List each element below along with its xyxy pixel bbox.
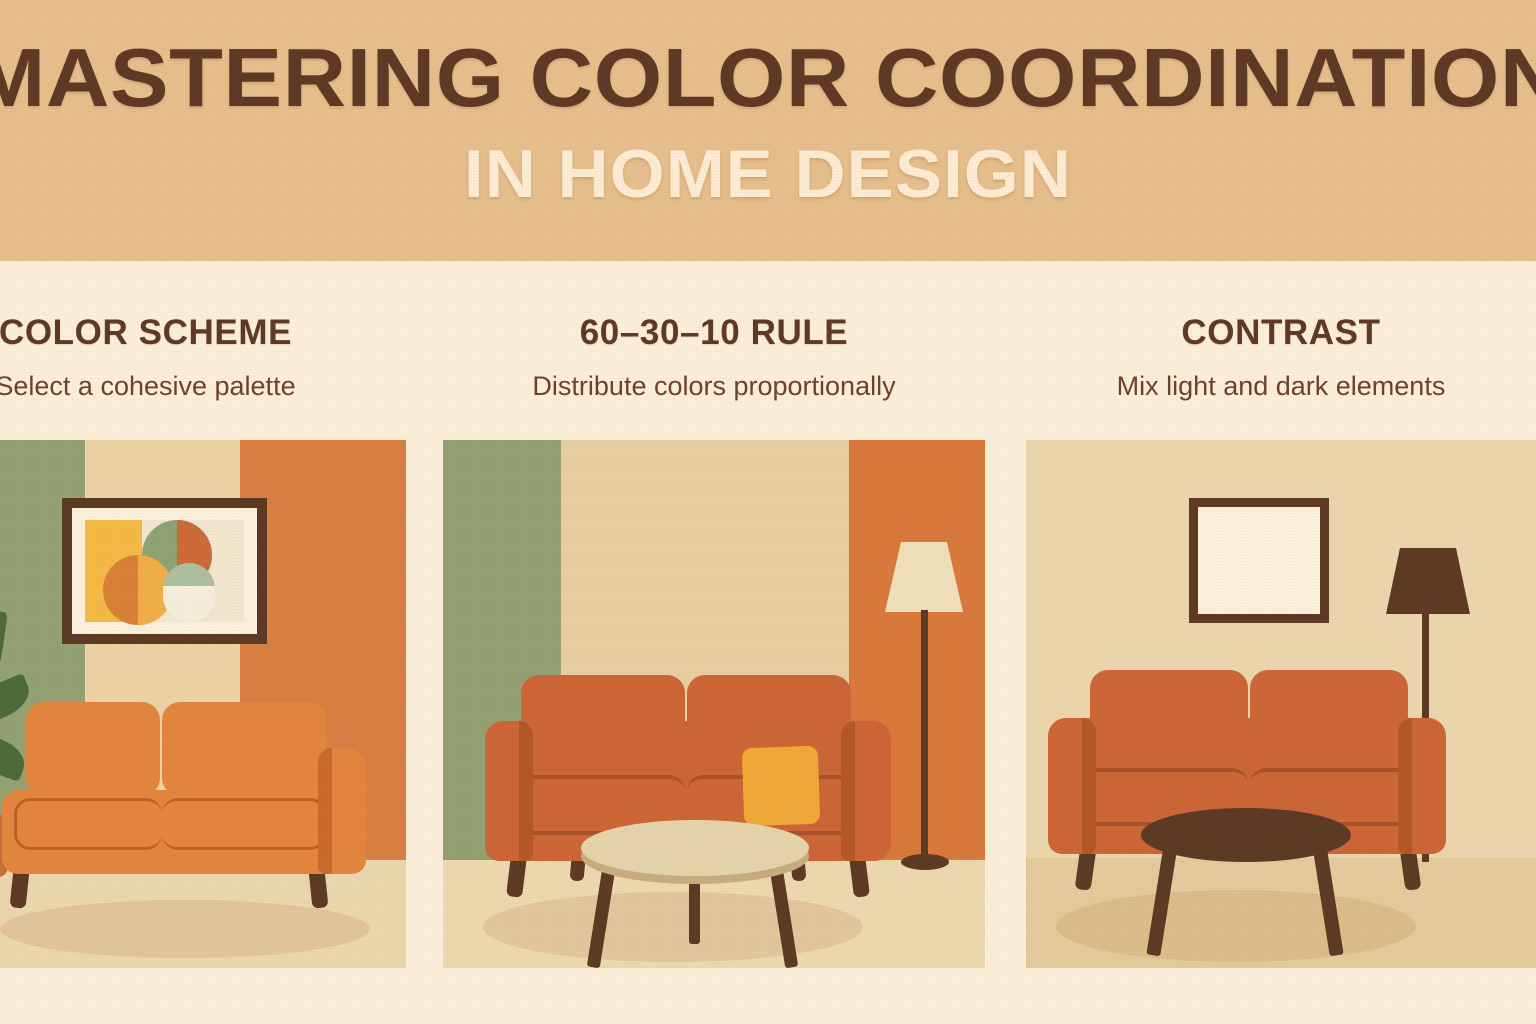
column-title: 60–30–10 RULE (443, 313, 985, 353)
sofa (0, 702, 374, 882)
table-leg (587, 862, 616, 968)
sofa-arm-right-inner (841, 721, 855, 861)
column-header: 60–30–10 RULE Distribute colors proporti… (443, 261, 985, 402)
column-header: COLOR SCHEME Select a cohesive palette (0, 261, 406, 402)
artwork-cream-circle (163, 586, 215, 622)
artwork-canvas (85, 520, 244, 622)
artwork-frame (62, 498, 267, 644)
artwork-mat (72, 508, 257, 634)
throw-pillow (742, 746, 821, 827)
sofa-seat-cushion-right (162, 798, 326, 850)
coffee-table (581, 820, 809, 968)
infographic-page: MASTERING COLOR COORDINATION IN HOME DES… (0, 0, 1536, 1024)
artwork-mat (1198, 507, 1320, 614)
illustration-60-30-10 (443, 440, 985, 968)
sofa-arm-left-inner (519, 721, 533, 861)
illustration-color-scheme (0, 440, 406, 968)
lamp-shade (1386, 548, 1470, 614)
page-title: MASTERING COLOR COORDINATION (0, 36, 1536, 119)
table-leg (769, 862, 798, 968)
column-60-30-10-rule: 60–30–10 RULE Distribute colors proporti… (443, 261, 985, 1024)
sofa-arm-left-inner (1082, 718, 1096, 854)
header-band: MASTERING COLOR COORDINATION IN HOME DES… (0, 0, 1536, 261)
column-contrast: CONTRAST Mix light and dark elements (1026, 261, 1536, 1024)
column-subtitle: Select a cohesive palette (0, 371, 406, 402)
sofa-arm-right-inner (318, 748, 332, 874)
column-color-scheme: COLOR SCHEME Select a cohesive palette (0, 261, 406, 1024)
artwork-frame (1189, 498, 1329, 623)
table-top-surface (581, 820, 809, 876)
lamp-base (901, 854, 949, 870)
table-top (1141, 808, 1351, 862)
lamp-pole (921, 610, 928, 860)
column-title: COLOR SCHEME (0, 313, 406, 353)
sofa-arm-right-inner (1398, 718, 1412, 854)
coffee-table (1141, 808, 1351, 960)
column-header: CONTRAST Mix light and dark elements (1026, 261, 1536, 402)
sofa-backrest-left (26, 702, 160, 796)
column-subtitle: Distribute colors proportionally (443, 371, 985, 402)
column-title: CONTRAST (1026, 313, 1536, 353)
lamp-shade (885, 542, 963, 612)
column-subtitle: Mix light and dark elements (1026, 371, 1536, 402)
page-subtitle: IN HOME DESIGN (0, 140, 1536, 208)
illustration-contrast (1026, 440, 1536, 968)
floor-shadow (0, 900, 370, 958)
table-leg (1312, 844, 1343, 957)
sofa-seat-cushion-left (14, 798, 162, 850)
sofa-backrest-right (162, 702, 326, 796)
table-leg (1146, 844, 1177, 957)
